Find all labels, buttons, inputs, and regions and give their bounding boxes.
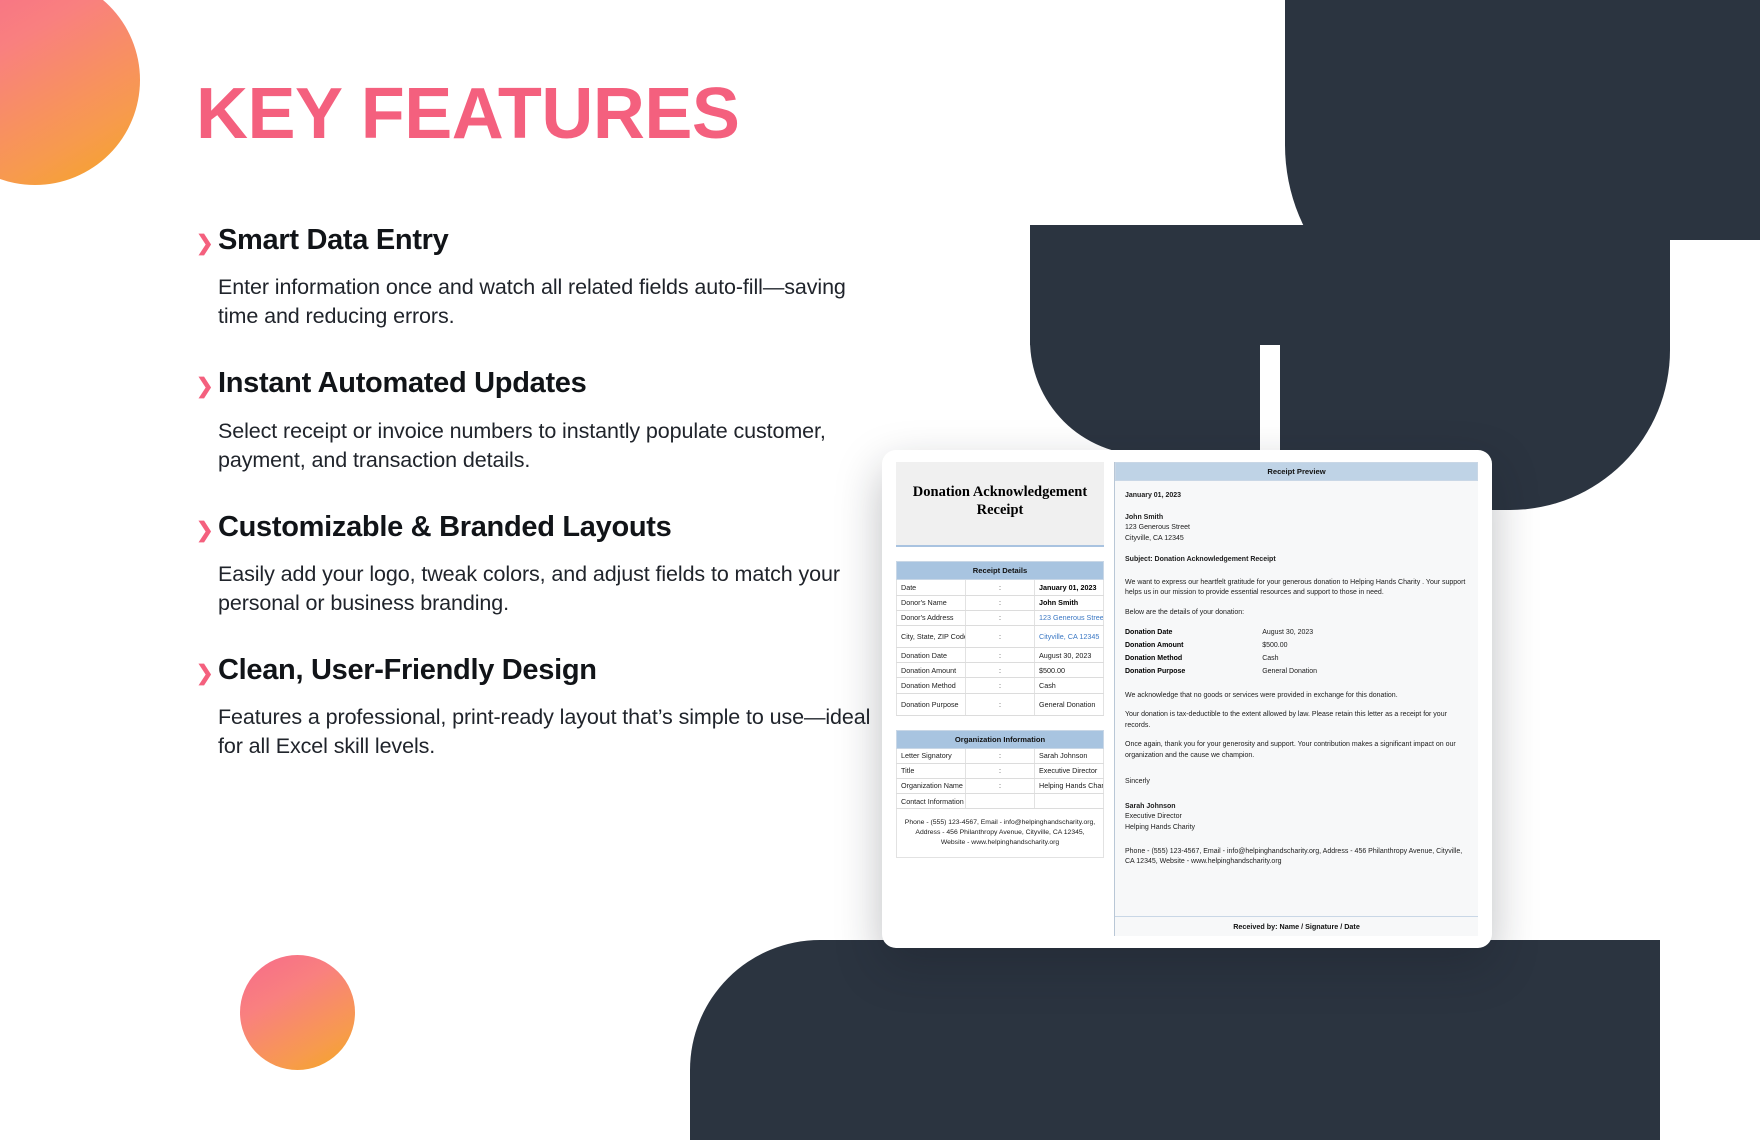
table-row: Donation Purpose : General Donation	[897, 693, 1104, 715]
preview-signer-name: Sarah Johnson	[1125, 802, 1468, 813]
preview-paragraph-5: Once again, thank you for your generosit…	[1125, 740, 1468, 761]
table-row: Letter Signatory : Sarah Johnson	[897, 748, 1104, 763]
row-separator: :	[966, 748, 1035, 763]
feature-description: Features a professional, print-ready lay…	[218, 703, 873, 761]
preview-recipient-address-line2: Cityville, CA 12345	[1125, 534, 1468, 545]
row-label: Donation Amount	[897, 663, 966, 678]
table-row: Organization Name : Helping Hands Charit…	[897, 778, 1104, 793]
feature-title: Instant Automated Updates	[218, 367, 916, 400]
decor-shape-mid-bar	[1030, 225, 1670, 345]
row-separator: :	[966, 663, 1035, 678]
feature-title: Smart Data Entry	[218, 224, 916, 257]
detail-value: Cash	[1262, 653, 1468, 666]
row-value[interactable]: 123 Generous Street	[1035, 610, 1104, 625]
preview-paragraph-1: We want to express our heartfelt gratitu…	[1125, 578, 1468, 599]
chevron-right-icon: ❯	[196, 520, 218, 618]
row-value[interactable]: $500.00	[1035, 663, 1104, 678]
table-header-row: Receipt Details	[897, 562, 1104, 580]
feature-item-clean-user-friendly-design: ❯ Clean, User-Friendly Design Features a…	[196, 654, 916, 761]
row-separator: :	[966, 778, 1035, 793]
preview-closing: Sincerly	[1125, 777, 1468, 788]
row-separator: :	[966, 610, 1035, 625]
document-title: Donation Acknowledgement Receipt	[896, 462, 1104, 547]
row-label: Donation Method	[897, 678, 966, 693]
detail-value: August 30, 2023	[1262, 627, 1468, 640]
row-value[interactable]: Helping Hands Charity	[1035, 778, 1104, 793]
row-label: Title	[897, 763, 966, 778]
detail-value: General Donation	[1262, 666, 1468, 679]
detail-key: Donation Method	[1125, 653, 1262, 666]
decor-shape-bottom-right	[1120, 940, 1660, 1140]
table-row: Donation Method Cash	[1125, 653, 1468, 666]
chevron-right-icon: ❯	[196, 663, 218, 761]
row-label: Contact Information	[897, 794, 966, 809]
content-column: KEY FEATURES ❯ Smart Data Entry Enter in…	[196, 78, 916, 762]
form-pane: Donation Acknowledgement Receipt Receipt…	[896, 462, 1104, 936]
organization-information-table: Organization Information Letter Signator…	[896, 730, 1104, 810]
row-label: Letter Signatory	[897, 748, 966, 763]
row-separator: :	[966, 580, 1035, 595]
slide-canvas: KEY FEATURES ❯ Smart Data Entry Enter in…	[0, 0, 1760, 1140]
row-label: Date	[897, 580, 966, 595]
feature-title: Customizable & Branded Layouts	[218, 511, 916, 544]
receipt-preview-header: Receipt Preview	[1115, 462, 1478, 481]
preview-paragraph-2: Below are the details of your donation:	[1125, 608, 1468, 619]
receipt-preview-body: January 01, 2023 John Smith 123 Generous…	[1115, 481, 1478, 916]
preview-recipient-name: John Smith	[1125, 513, 1468, 524]
row-value[interactable]: Executive Director	[1035, 763, 1104, 778]
row-separator	[966, 794, 1035, 809]
row-separator: :	[966, 693, 1035, 715]
feature-item-smart-data-entry: ❯ Smart Data Entry Enter information onc…	[196, 224, 916, 331]
row-label: Donation Purpose	[897, 693, 966, 715]
table-row: Contact Information	[897, 794, 1104, 809]
table-row: Donation Date : August 30, 2023	[897, 647, 1104, 662]
row-separator: :	[966, 763, 1035, 778]
row-value[interactable]: Cash	[1035, 678, 1104, 693]
chevron-right-icon: ❯	[196, 233, 218, 331]
gradient-circle-bottom-left	[240, 955, 355, 1070]
feature-description: Enter information once and watch all rel…	[218, 273, 873, 331]
row-value[interactable]	[1035, 794, 1104, 809]
preview-received-by: Received by: Name / Signature / Date	[1115, 916, 1478, 936]
page-title: KEY FEATURES	[196, 78, 916, 150]
row-label: Donation Date	[897, 647, 966, 662]
table-header-row: Organization Information	[897, 730, 1104, 748]
table-row: Date : January 01, 2023	[897, 580, 1104, 595]
row-label: City, State, ZIP Code	[897, 625, 966, 647]
detail-key: Donation Date	[1125, 627, 1262, 640]
organization-information-header: Organization Information	[897, 730, 1104, 748]
row-label: Organization Name	[897, 778, 966, 793]
row-value[interactable]: John Smith	[1035, 595, 1104, 610]
table-row: Donation Amount : $500.00	[897, 663, 1104, 678]
preview-paragraph-4: Your donation is tax-deductible to the e…	[1125, 710, 1468, 731]
preview-signer-title: Executive Director	[1125, 812, 1468, 823]
feature-item-instant-automated-updates: ❯ Instant Automated Updates Select recei…	[196, 367, 916, 474]
document-mockup-window: Donation Acknowledgement Receipt Receipt…	[882, 450, 1492, 948]
gradient-circle-top-left	[0, 0, 140, 185]
decor-shape-top-tail	[1530, 0, 1760, 240]
feature-title: Clean, User-Friendly Design	[218, 654, 916, 687]
row-value[interactable]: Cityville, CA 12345	[1035, 625, 1104, 647]
detail-key: Donation Amount	[1125, 640, 1262, 653]
row-separator: :	[966, 678, 1035, 693]
feature-description: Easily add your logo, tweak colors, and …	[218, 560, 873, 618]
chevron-right-icon: ❯	[196, 376, 218, 474]
feature-item-customizable-branded-layouts: ❯ Customizable & Branded Layouts Easily …	[196, 511, 916, 618]
row-separator: :	[966, 595, 1035, 610]
table-row: Donation Date August 30, 2023	[1125, 627, 1468, 640]
preview-paragraph-3: We acknowledge that no goods or services…	[1125, 691, 1468, 702]
row-value[interactable]: General Donation	[1035, 693, 1104, 715]
detail-key: Donation Purpose	[1125, 666, 1262, 679]
row-value[interactable]: Sarah Johnson	[1035, 748, 1104, 763]
table-row: Donation Method : Cash	[897, 678, 1104, 693]
preview-subject: Subject: Donation Acknowledgement Receip…	[1125, 555, 1468, 566]
row-label: Donor's Address	[897, 610, 966, 625]
table-row: Donor's Name : John Smith	[897, 595, 1104, 610]
detail-value: $500.00	[1262, 640, 1468, 653]
row-label: Donor's Name	[897, 595, 966, 610]
feature-description: Select receipt or invoice numbers to ins…	[218, 417, 873, 475]
row-separator: :	[966, 647, 1035, 662]
preview-footer-contact: Phone - (555) 123-4567, Email - info@hel…	[1125, 847, 1468, 867]
receipt-preview-pane: Receipt Preview January 01, 2023 John Sm…	[1114, 462, 1478, 936]
receipt-details-header: Receipt Details	[897, 562, 1104, 580]
preview-date: January 01, 2023	[1125, 491, 1468, 502]
table-row: Donation Purpose General Donation	[1125, 666, 1468, 679]
preview-donation-details-table: Donation Date August 30, 2023 Donation A…	[1125, 627, 1468, 679]
row-value[interactable]: January 01, 2023	[1035, 580, 1104, 595]
table-row: Title : Executive Director	[897, 763, 1104, 778]
row-separator: :	[966, 625, 1035, 647]
receipt-details-table: Receipt Details Date : January 01, 2023 …	[896, 561, 1104, 715]
table-row: City, State, ZIP Code : Cityville, CA 12…	[897, 625, 1104, 647]
contact-information-block: Phone - (555) 123-4567, Email - info@hel…	[896, 809, 1104, 858]
preview-recipient-address-line1: 123 Generous Street	[1125, 523, 1468, 534]
table-row: Donation Amount $500.00	[1125, 640, 1468, 653]
row-value[interactable]: August 30, 2023	[1035, 647, 1104, 662]
preview-signer-organization: Helping Hands Charity	[1125, 823, 1468, 834]
table-row: Donor's Address : 123 Generous Street	[897, 610, 1104, 625]
